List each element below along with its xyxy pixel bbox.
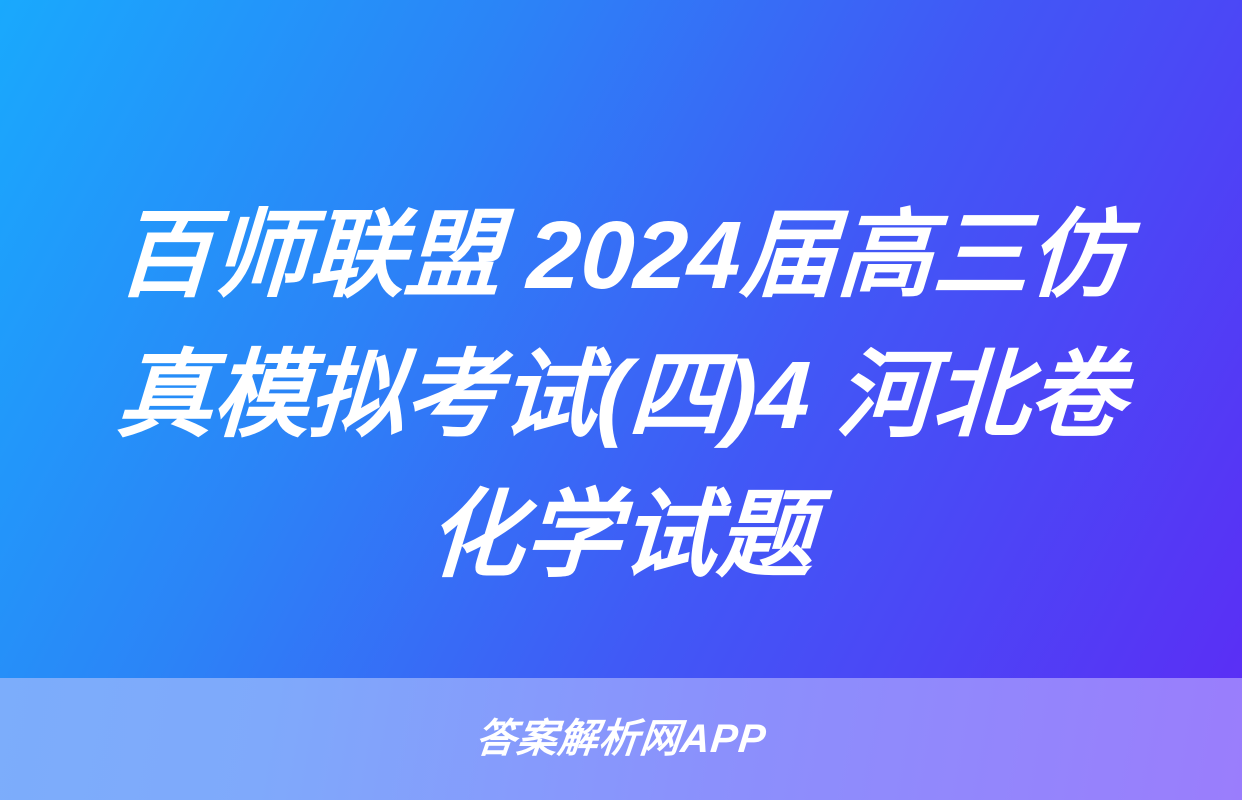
app-watermark-label: 答案解析网APP — [473, 716, 768, 762]
hero-gradient-band: 百师联盟 2024届高三仿 真模拟考试(四)4 河北卷 化学试题 — [0, 0, 1242, 678]
exam-title-line-2: 真模拟考试(四)4 河北卷 — [74, 326, 1167, 466]
footer-watermark-band: 答案解析网APP — [0, 678, 1242, 800]
exam-title-line-3: 化学试题 — [74, 466, 1167, 606]
exam-title-line-1: 百师联盟 2024届高三仿 — [74, 186, 1167, 326]
exam-title-block: 百师联盟 2024届高三仿 真模拟考试(四)4 河北卷 化学试题 — [78, 186, 1164, 606]
exam-cover-card: 百师联盟 2024届高三仿 真模拟考试(四)4 河北卷 化学试题 答案解析网AP… — [0, 0, 1242, 800]
